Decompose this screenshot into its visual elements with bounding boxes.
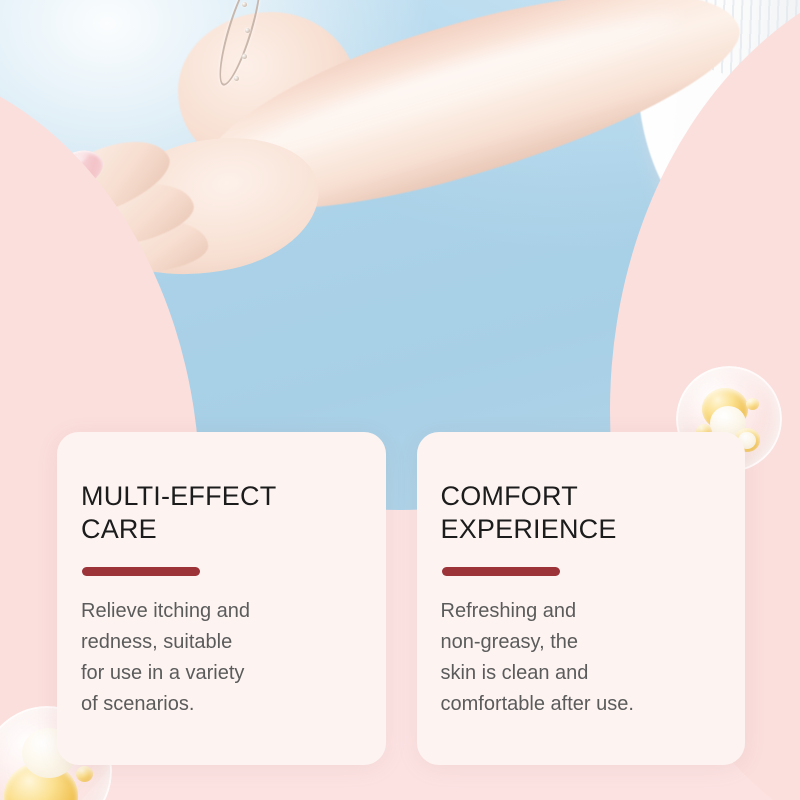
card-body: Relieve itching and redness, suitable fo… [81, 596, 360, 720]
bracelet-bead [234, 76, 239, 81]
accent-divider [82, 567, 200, 576]
card-title: COMFORT EXPERIENCE [441, 480, 720, 546]
feature-card-comfort-experience[interactable]: COMFORT EXPERIENCE Refreshing and non-gr… [417, 432, 746, 765]
bracelet-bead [242, 2, 247, 7]
accent-divider [442, 567, 560, 576]
card-title: MULTI-EFFECT CARE [81, 480, 360, 546]
oil-droplet [746, 398, 759, 410]
oil-droplet [76, 766, 93, 782]
card-body: Refreshing and non-greasy, the skin is c… [441, 596, 720, 720]
bracelet-bead [242, 54, 247, 59]
bracelet-bead [245, 28, 250, 33]
banner-root: MULTI-EFFECT CARE Relieve itching and re… [0, 0, 800, 800]
feature-card-multi-effect-care[interactable]: MULTI-EFFECT CARE Relieve itching and re… [57, 432, 386, 765]
feature-card-list: MULTI-EFFECT CARE Relieve itching and re… [57, 432, 745, 765]
